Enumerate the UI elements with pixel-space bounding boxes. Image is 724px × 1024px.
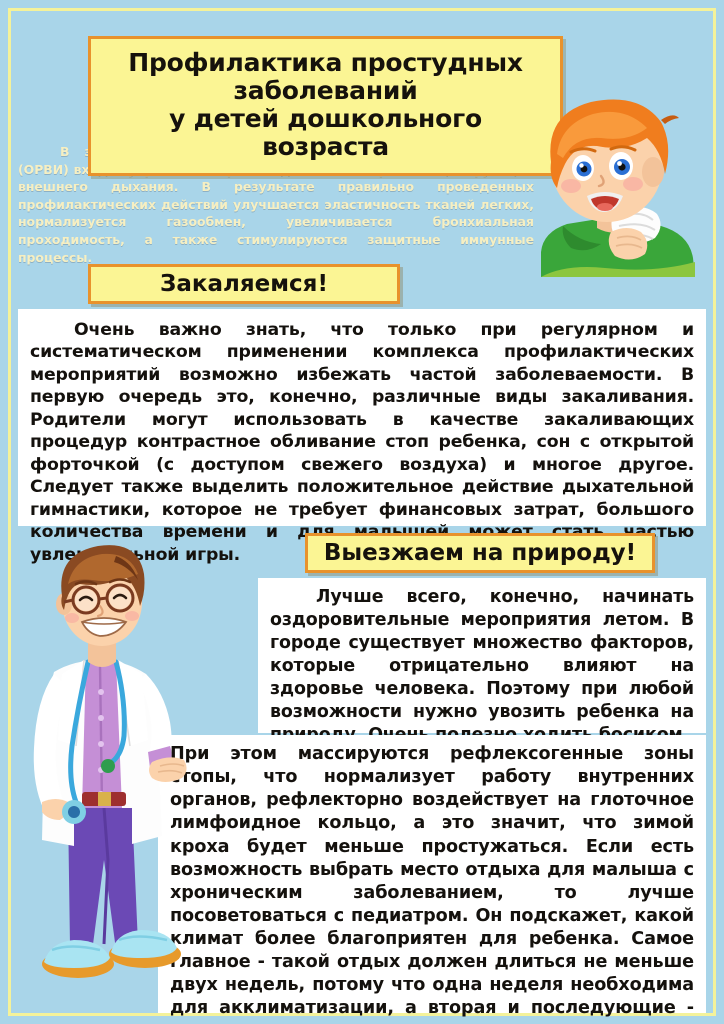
section-body-nature-second: При этом массируются рефлексогенные зоны… bbox=[158, 735, 706, 1013]
page-title-line-2: у детей дошкольного возраста bbox=[105, 105, 546, 161]
page-title-line-1: Профилактика простудных заболеваний bbox=[105, 49, 546, 105]
section-body-hardening-text: Очень важно знать, что только при регуля… bbox=[30, 319, 694, 566]
section-body-nature-second-text: При этом массируются рефлексогенные зоны… bbox=[170, 743, 694, 1024]
section-heading-hardening: Закаляемся! bbox=[88, 264, 400, 304]
sick-boy-holding-throat-illustration bbox=[505, 92, 720, 277]
section-body-nature-first: Лучше всего, конечно, начинать оздоровит… bbox=[258, 578, 706, 733]
section-heading-hardening-label: Закаляемся! bbox=[160, 273, 328, 296]
section-body-nature-first-text: Лучше всего, конечно, начинать оздоровит… bbox=[270, 586, 694, 747]
doctor-pediatrician-illustration bbox=[12, 540, 190, 1012]
section-body-hardening: Очень важно знать, что только при регуля… bbox=[18, 309, 706, 526]
poster-root: Профилактика простудных заболеваний у де… bbox=[0, 0, 724, 1024]
poster-title-plaque: Профилактика простудных заболеваний у де… bbox=[88, 36, 563, 176]
section-heading-nature-label: Выезжаем на природу! bbox=[324, 542, 636, 565]
section-heading-nature: Выезжаем на природу! bbox=[305, 533, 655, 573]
